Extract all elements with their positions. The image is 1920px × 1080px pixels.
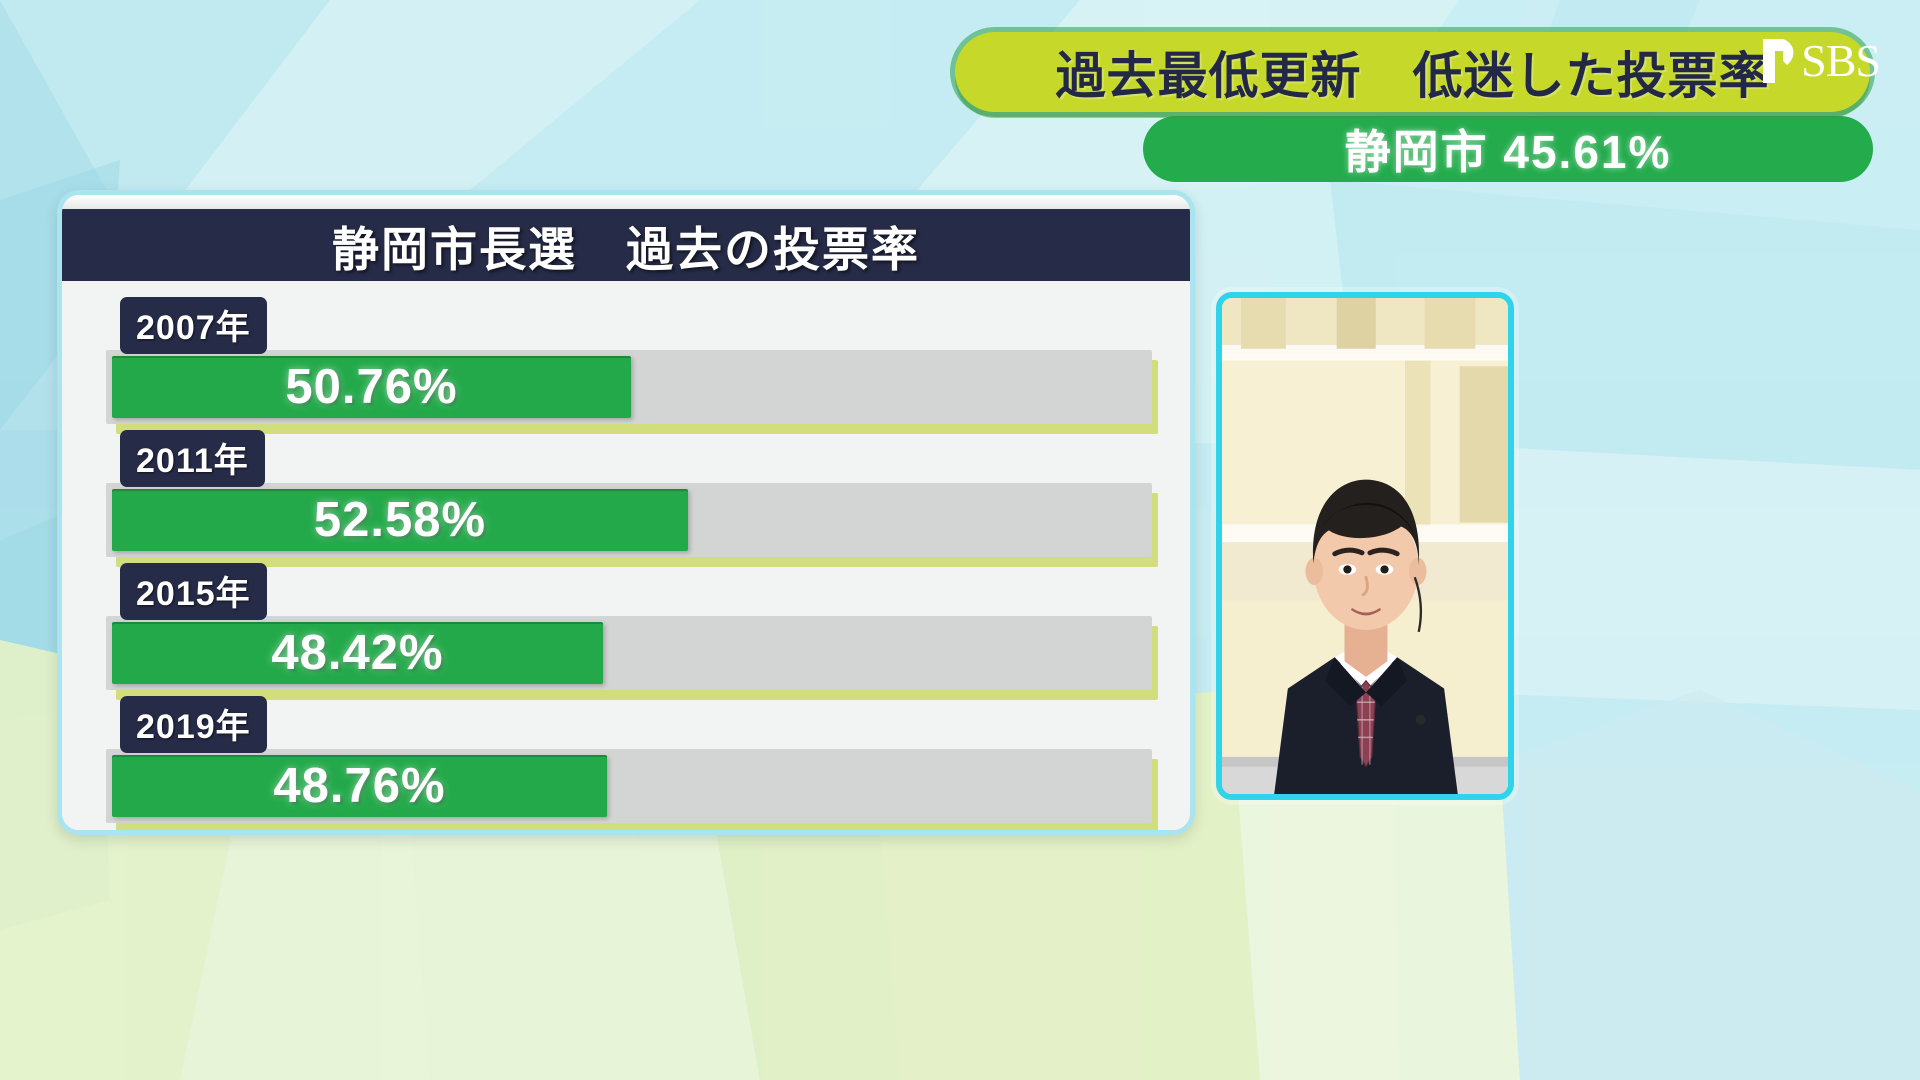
station-logo-text: SBS [1801, 34, 1880, 87]
bar-track-wrap: 50.76% [104, 348, 1150, 434]
headline-banner: 過去最低更新 低迷した投票率 [955, 32, 1870, 112]
bar-fill: 48.76% [112, 755, 607, 817]
presenter-video-panel [1216, 292, 1514, 800]
subline-text: 静岡市 45.61% [1345, 116, 1672, 182]
bar-fill: 50.76% [112, 356, 631, 418]
subline-banner: 静岡市 45.61% [1143, 116, 1873, 182]
bar-value-label: 52.58% [314, 492, 486, 548]
headline-pill: 過去最低更新 低迷した投票率 [955, 32, 1870, 112]
sbs-leaf-mark-icon [1753, 35, 1799, 87]
bar-row: 2011年 52.58% [104, 430, 1150, 563]
bar-track-wrap: 48.42% [104, 614, 1150, 700]
bar-fill: 52.58% [112, 489, 688, 551]
bar-category-label: 2007年 [120, 297, 267, 354]
chart-panel-top-strip [62, 195, 1190, 209]
bar-row: 2007年 50.76% [104, 297, 1150, 430]
bar-value-label: 50.76% [285, 359, 457, 415]
bar-category-label: 2011年 [120, 430, 265, 487]
bar-value-label: 48.42% [271, 625, 443, 681]
bar-fill: 48.42% [112, 622, 603, 684]
bar-track-wrap: 52.58% [104, 481, 1150, 567]
bar-category-label: 2015年 [120, 563, 267, 620]
presenter-video-image [1222, 298, 1508, 794]
bar-track-wrap: 48.76% [104, 747, 1150, 833]
chart-title-bar: 静岡市長選 過去の投票率 [62, 209, 1190, 281]
bar-chart-rows: 2007年 50.76% 2011年 52.58% [62, 281, 1190, 830]
bar-row: 2015年 48.42% [104, 563, 1150, 696]
chart-panel-inner: 静岡市長選 過去の投票率 2007年 50.76% 2011年 [62, 195, 1190, 830]
bar-category-label: 2019年 [120, 696, 267, 753]
bar-value-label: 48.76% [273, 758, 445, 814]
subline-pill: 静岡市 45.61% [1143, 116, 1873, 182]
headline-text: 過去最低更新 低迷した投票率 [1056, 36, 1770, 108]
chart-panel: 静岡市長選 過去の投票率 2007年 50.76% 2011年 [57, 190, 1195, 835]
page-title: 静岡市長選 過去の投票率 [332, 211, 920, 280]
bar-row: 2019年 48.76% [104, 696, 1150, 829]
station-logo: SBS [1753, 34, 1880, 87]
